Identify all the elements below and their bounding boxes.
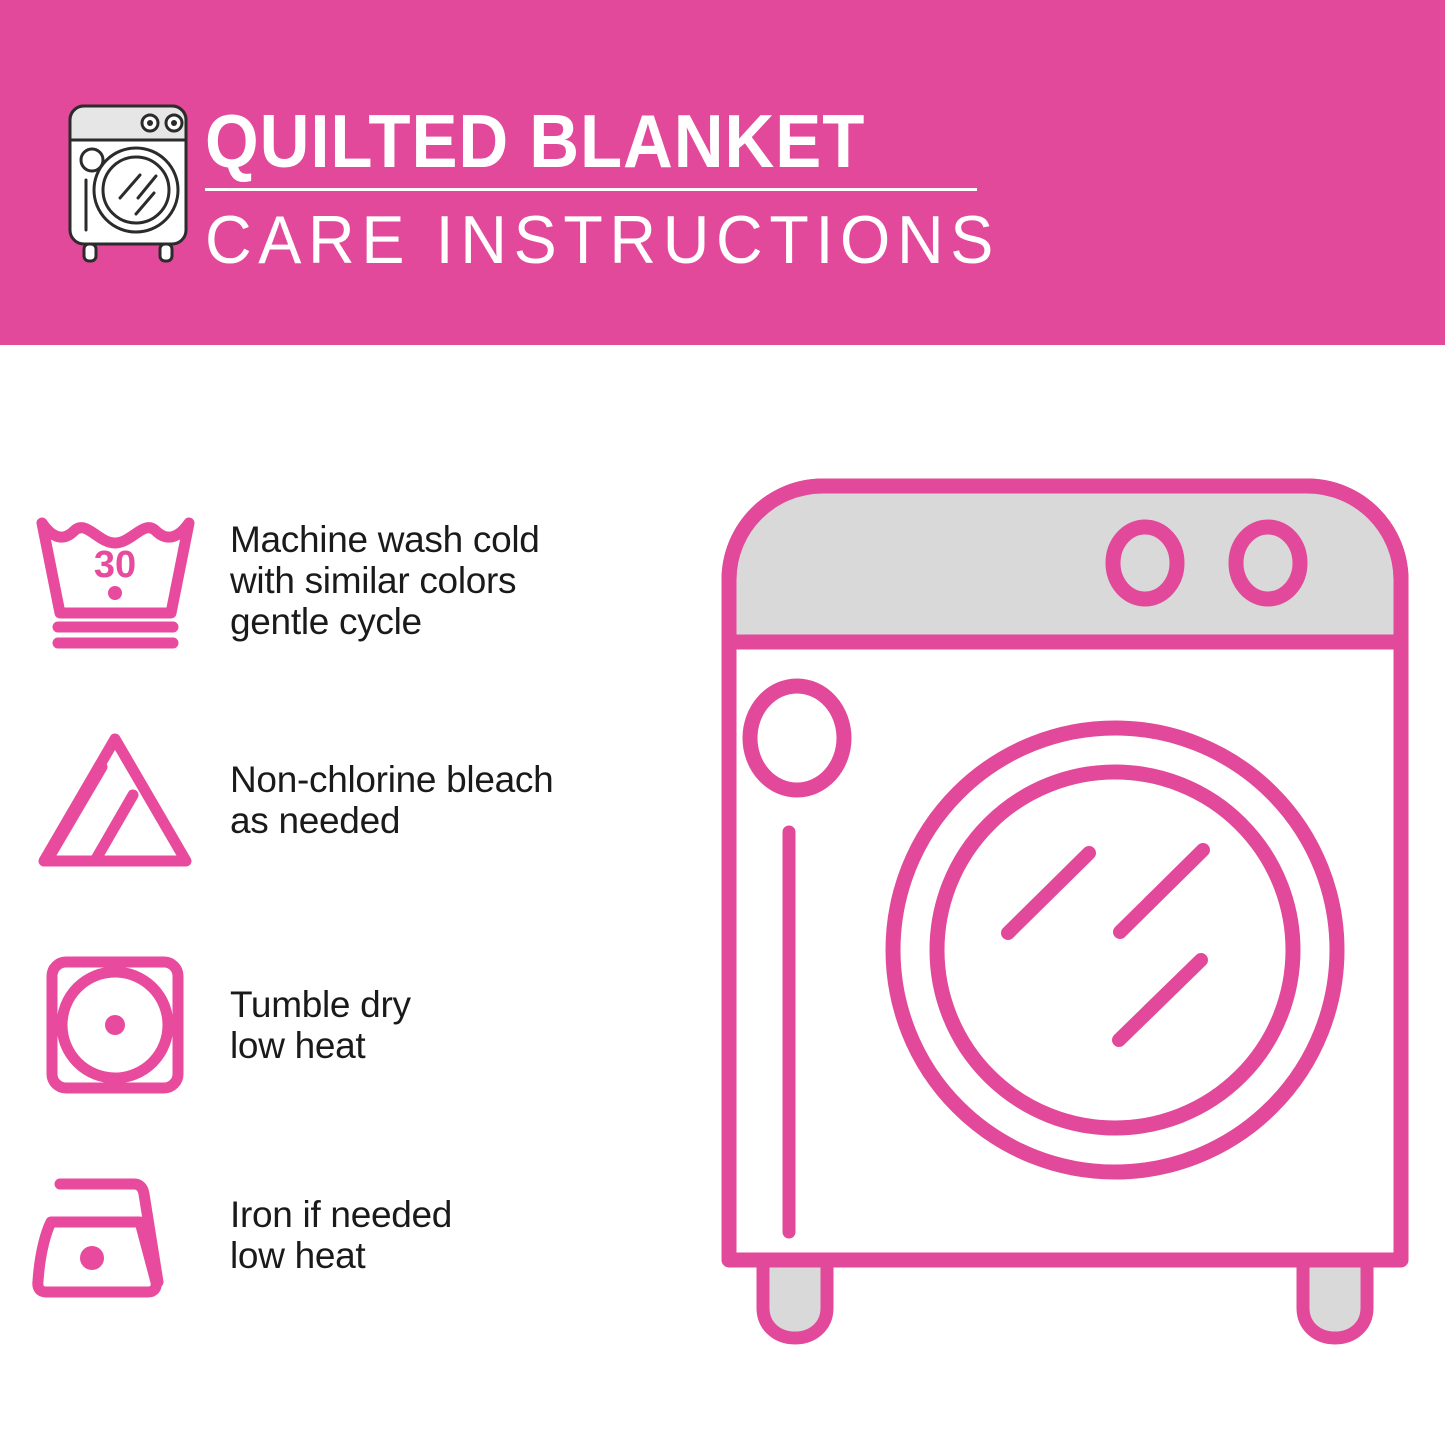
- care-line: as needed: [230, 800, 553, 841]
- header-banner: QUILTED BLANKET CARE INSTRUCTIONS: [0, 0, 1445, 345]
- bleach-triangle-icon: [0, 715, 230, 885]
- page-subtitle: CARE INSTRUCTIONS: [205, 203, 956, 277]
- door-inner-ring: [937, 772, 1293, 1128]
- care-line: low heat: [230, 1235, 452, 1276]
- title-divider: [205, 188, 977, 191]
- tumble-dry-icon: [0, 940, 230, 1110]
- care-line: with similar colors: [230, 560, 540, 601]
- iron-icon: [0, 1150, 230, 1320]
- page-title: QUILTED BLANKET: [205, 100, 932, 182]
- care-line: Machine wash cold: [230, 519, 540, 560]
- care-text-bleach: Non-chlorine bleach as needed: [230, 759, 553, 841]
- care-text-dry: Tumble dry low heat: [230, 984, 411, 1066]
- care-row: 30 Machine wash cold with similar colors…: [0, 495, 700, 665]
- care-line: Iron if needed: [230, 1194, 452, 1235]
- care-line: low heat: [230, 1025, 411, 1066]
- care-line: gentle cycle: [230, 601, 540, 642]
- care-line: Non-chlorine bleach: [230, 759, 553, 800]
- care-line: Tumble dry: [230, 984, 411, 1025]
- wash-tub-30-icon: 30: [0, 495, 230, 665]
- care-row: Non-chlorine bleach as needed: [0, 715, 700, 885]
- header-text-block: QUILTED BLANKET CARE INSTRUCTIONS: [205, 100, 995, 277]
- care-row: Iron if needed low heat: [0, 1150, 700, 1320]
- care-instruction-list: 30 Machine wash cold with similar colors…: [0, 345, 700, 1445]
- front-load-washing-machine-illustration: [715, 470, 1415, 1370]
- wash-temperature-label: 30: [93, 544, 135, 586]
- care-row: Tumble dry low heat: [0, 940, 700, 1110]
- care-text-iron: Iron if needed low heat: [230, 1194, 452, 1276]
- care-instructions-page: QUILTED BLANKET CARE INSTRUCTIONS 30: [0, 0, 1445, 1445]
- washing-machine-logo-icon: [58, 98, 198, 263]
- care-text-wash: Machine wash cold with similar colors ge…: [230, 519, 540, 642]
